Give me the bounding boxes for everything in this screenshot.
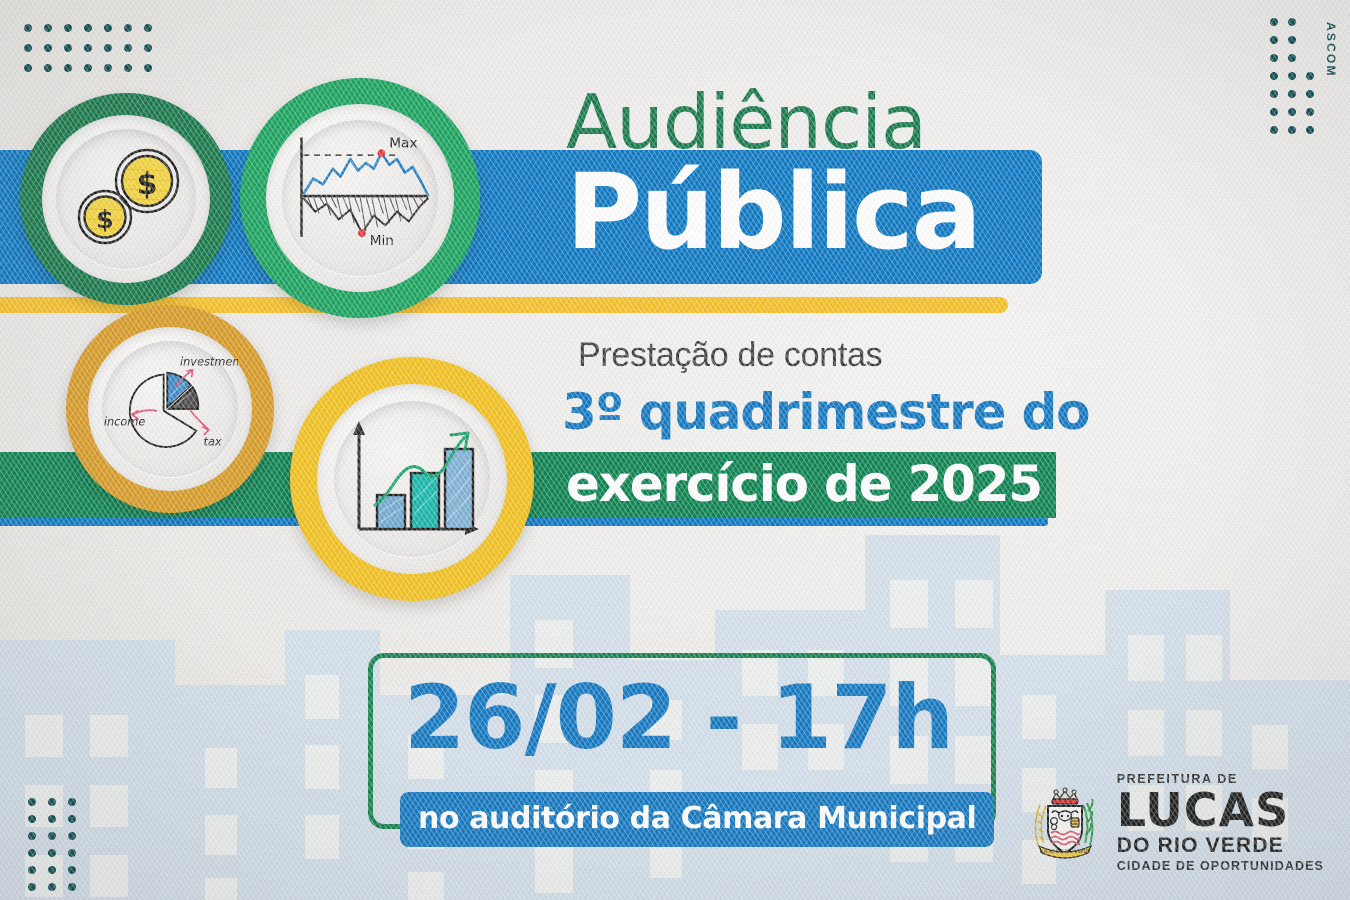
svg-text:investment: investment (180, 354, 238, 368)
dot-grid-top-right (1270, 18, 1324, 144)
svg-text:income: income (104, 414, 146, 428)
svg-text:$: $ (137, 167, 158, 202)
icon-circle-coins: $ $ (20, 93, 232, 305)
icon-circle-pie-chart: investment income tax (66, 305, 274, 513)
dot-grid-top-left (24, 24, 164, 84)
coins-icon: $ $ (61, 139, 191, 259)
pie-chart-icon: investment income tax (102, 349, 238, 469)
svg-text:tax: tax (204, 434, 222, 448)
svg-text:LUCAS DO RIO VERDE: LUCAS DO RIO VERDE (1040, 849, 1090, 855)
icon-circle-line-chart: Max Min (240, 78, 480, 318)
dot-grid-bottom-left (28, 798, 88, 900)
svg-text:Min: Min (370, 233, 394, 249)
svg-text:Max: Max (389, 135, 417, 151)
logo-subname: DO RIO VERDE (1117, 835, 1324, 856)
subtitle-prestacao-de-contas: Prestação de contas (578, 336, 882, 375)
logo-name: LUCAS (1117, 787, 1324, 833)
headline-publica: Pública (566, 160, 980, 264)
prefeitura-logo: LUCAS DO RIO VERDE PREFEITURA DE LUCAS D… (1026, 773, 1324, 872)
ascom-credit: ASCOM (1324, 22, 1338, 78)
bar-chart-growth-icon (337, 409, 487, 549)
subtitle-exercicio: exercício de 2025 (566, 455, 1042, 513)
svg-text:$: $ (96, 205, 113, 234)
icon-circle-bar-chart (290, 357, 534, 601)
line-chart-icon: Max Min (282, 128, 438, 268)
event-venue: no auditório da Câmara Municipal (400, 792, 994, 847)
subtitle-quadrimestre: 3º quadrimestre do (562, 383, 1089, 441)
poster-canvas: ASCOM $ $ (0, 0, 1350, 900)
coat-of-arms-icon: LUCAS DO RIO VERDE (1026, 783, 1104, 863)
event-date-time: 26/02 - 17h (404, 666, 953, 769)
logo-slogan: CIDADE DE OPORTUNIDADES (1117, 860, 1324, 873)
